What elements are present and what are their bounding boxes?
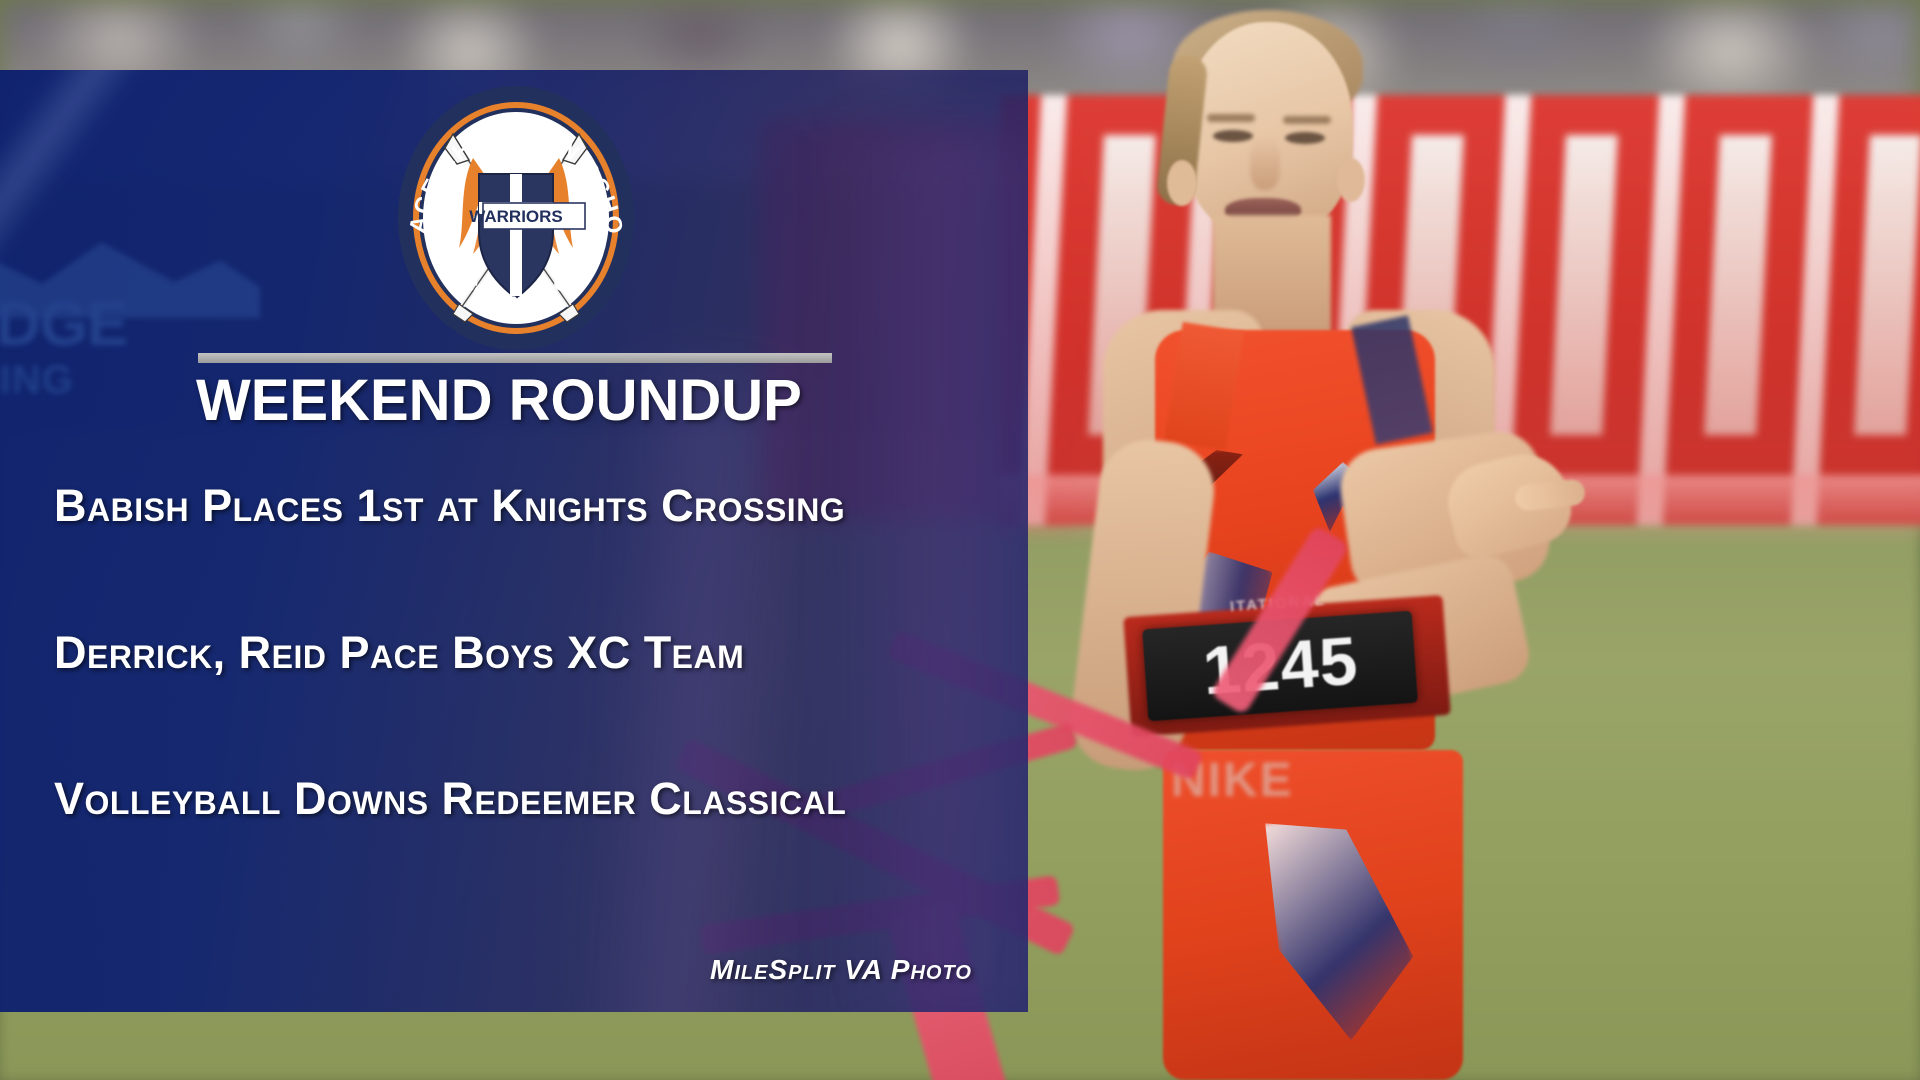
photo-credit: MileSplit VA Photo	[710, 956, 972, 984]
title-divider	[198, 353, 832, 363]
headline-item-2[interactable]: Derrick, Reid Pace Boys XC Team	[54, 627, 744, 679]
banner-line-1: RIDGE	[0, 294, 256, 356]
light-streak	[830, 130, 1028, 1012]
graphic-canvas: NIKE ITATIONAL 1245 RIDGE NNING	[0, 0, 1920, 1080]
headline-item-3[interactable]: Volleyball Downs Redeemer Classical	[54, 773, 846, 825]
page-title: WEEKEND ROUNDUP	[196, 372, 956, 430]
logo-banner-text: WARRIORS	[469, 207, 563, 226]
light-streak	[574, 365, 807, 1012]
school-logo: WARRIORS GRACE CHRISTIAN SCHOOL coram De…	[395, 82, 637, 354]
uniform-brand-text: NIKE	[1171, 752, 1461, 810]
headline-item-1[interactable]: Babish Places 1st at Knights Crossing	[54, 480, 845, 532]
